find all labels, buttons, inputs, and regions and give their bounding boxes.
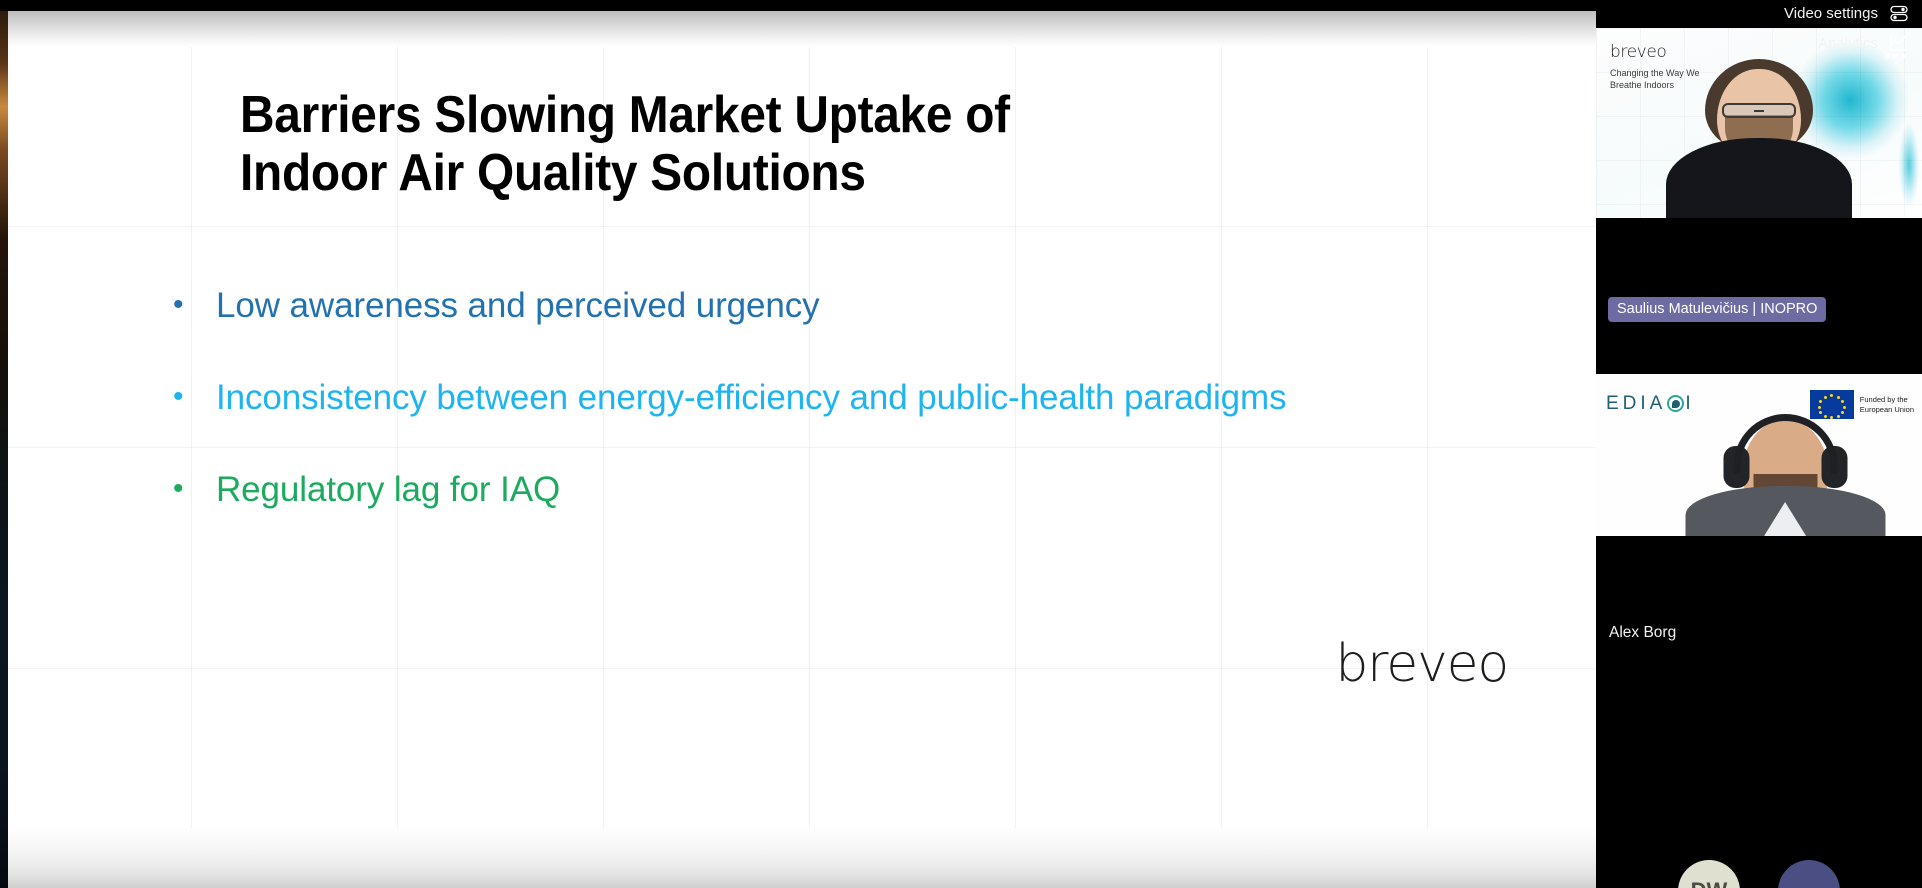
breveo-brand-tagline: Changing the Way We Breathe Indoors [1610,67,1705,91]
top-right-controls: Video settings Analytics [1780,0,1914,56]
video-tile-alex-borg[interactable]: Alex Borg [1596,536,1922,726]
top-bar [0,0,1922,11]
ediaqi-logo-left: EDIA [1606,393,1666,414]
ediaqi-logo-right: I [1685,393,1694,414]
ediaqi-logo: EDIAI [1606,392,1695,415]
slide-bullet-item: • Low awareness and perceived urgency [168,283,1488,329]
eu-funding-text: Funded by the European Union [1860,395,1914,415]
avatar[interactable]: DW [1678,860,1740,888]
bullet-marker-icon: • [168,467,216,511]
video-feed: breveo Changing the Way We Breathe Indoo… [1596,28,1922,218]
torso [1666,138,1852,218]
participant-name-badge: Saulius Matulevičius | INOPRO [1608,297,1826,322]
slide-bullet-item: • Inconsistency between energy-efficienc… [168,375,1488,421]
line-chart-icon [1888,32,1910,54]
breveo-brand-block: breveo Changing the Way We Breathe Indoo… [1610,42,1705,91]
breveo-logo: breveo [1335,634,1508,694]
bullet-marker-icon: • [168,375,216,419]
slide-title-line-1: Barriers Slowing Market Uptake of [240,86,1160,144]
avatar-row: DW [1596,860,1922,888]
slide-bullet-list: • Low awareness and perceived urgency • … [168,283,1488,560]
video-tile-breveo-speaker[interactable]: breveo Changing the Way We Breathe Indoo… [1596,28,1922,238]
video-participant-rail: breveo Changing the Way We Breathe Indoo… [1596,0,1922,888]
headphone-band-icon [1733,414,1837,474]
video-settings-label: Video settings [1784,5,1878,22]
video-settings-button[interactable]: Video settings [1780,0,1914,26]
sliders-icon [1888,2,1910,24]
slide-title: Barriers Slowing Market Uptake of Indoor… [240,86,1160,202]
slide-content: Barriers Slowing Market Uptake of Indoor… [8,11,1596,888]
bullet-text: Inconsistency between energy-efficiency … [216,375,1488,421]
video-tile-saulius[interactable]: Saulius Matulevičius | INOPRO [1596,238,1922,374]
analytics-label: Analytics [1818,35,1878,52]
left-edge-video-sliver [0,10,8,888]
participant-silhouette [1678,416,1893,536]
bullet-text: Low awareness and perceived urgency [216,283,1488,329]
video-feed: EDIAI [1596,374,1922,536]
eu-funding-line-2: European Union [1860,405,1914,415]
bullet-text: Regulatory lag for IAQ [216,467,1488,513]
eu-funding-block: Funded by the European Union [1810,390,1914,419]
avatar[interactable] [1778,860,1840,888]
video-tile-avatars[interactable]: DW [1596,726,1922,888]
slide-bullet-item: • Regulatory lag for IAQ [168,467,1488,513]
bullet-marker-icon: • [168,283,216,327]
glasses-icon [1722,103,1796,118]
shared-slide-stage[interactable]: Barriers Slowing Market Uptake of Indoor… [8,11,1596,888]
eu-funding-line-1: Funded by the [1860,395,1914,405]
ediaqi-droplet-icon [1667,395,1684,412]
analytics-button[interactable]: Analytics [1780,30,1914,56]
video-tile-ediaqi-speaker[interactable]: EDIAI [1596,374,1922,536]
participant-name-label: Alex Borg [1609,624,1676,642]
eu-flag-icon [1810,390,1854,419]
slide-title-line-2: Indoor Air Quality Solutions [240,144,1160,202]
webinar-screen: Barriers Slowing Market Uptake of Indoor… [0,0,1922,888]
breveo-brand-name: breveo [1610,42,1705,62]
